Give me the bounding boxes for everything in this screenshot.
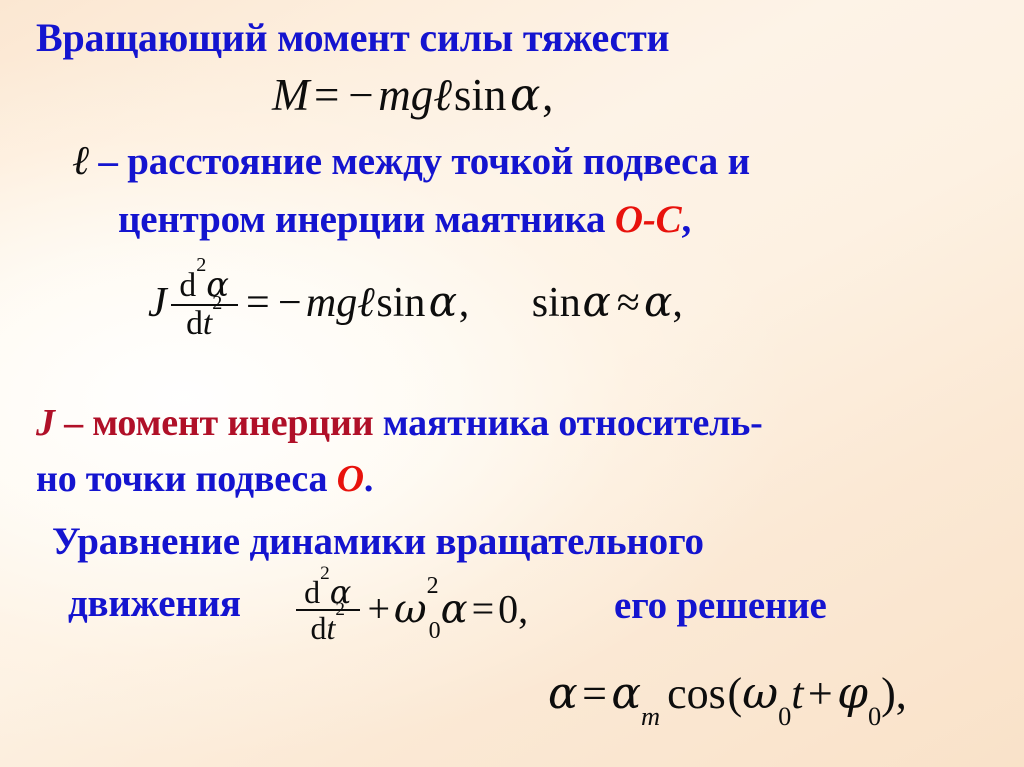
equation-solution: α=αmcos(ω0t+φ0), xyxy=(548,672,907,716)
sol-plus: + xyxy=(804,669,838,718)
suspension-label-o: О xyxy=(337,458,364,500)
sol-alpha-amp: α xyxy=(611,668,641,719)
torque-equals: = xyxy=(310,70,344,120)
sol-equals: = xyxy=(578,669,612,718)
moment-symbol-j: J xyxy=(36,402,55,444)
torque-mg: mg xyxy=(378,70,433,120)
center-label-oc: О-С xyxy=(615,198,682,241)
moment-crimson-text: момент инерции xyxy=(92,402,373,444)
rot-den-d: d xyxy=(186,305,203,342)
sol-comma: , xyxy=(896,669,907,718)
harm-numerator: d2α xyxy=(296,576,360,609)
sol-phi-sub: 0 xyxy=(868,701,881,731)
torque-ell: ℓ xyxy=(433,68,452,121)
sol-phi: φ xyxy=(837,668,868,719)
rot-minus: − xyxy=(274,280,306,326)
rot-alpha: α xyxy=(427,277,459,326)
sol-amp-sub: m xyxy=(641,701,660,731)
harm-plus: + xyxy=(363,586,394,631)
torque-sin: sin xyxy=(452,70,508,120)
rot-den-exp: 2 xyxy=(212,292,222,314)
rot-equals: = xyxy=(242,280,274,326)
rot-numerator: d2α xyxy=(171,268,238,304)
line-moment-of-inertia: J – момент инерции маятника относитель- xyxy=(36,404,763,442)
sol-t: t xyxy=(791,669,803,718)
harm-num-d: d xyxy=(304,574,320,610)
suspension-period: . xyxy=(364,458,373,500)
slide-canvas: Вращающий момент силы тяжести M=−mgℓsinα… xyxy=(0,0,1024,767)
harm-omega: ω xyxy=(394,586,427,632)
torque-minus: − xyxy=(344,70,378,120)
equation-rotation-dynamics: J d2α dt2 =−mgℓsinα, sinα≈α, xyxy=(148,268,683,340)
sol-alpha: α xyxy=(548,668,578,719)
harm-zero: 0 xyxy=(498,586,518,631)
harm-den-d: d xyxy=(311,610,327,646)
sol-open-paren: ( xyxy=(728,669,743,718)
harm-omega-exp: 2 xyxy=(427,573,439,599)
rot-comma: , xyxy=(459,280,470,326)
harm-num-exp: 2 xyxy=(320,563,330,584)
harm-denominator: dt2 xyxy=(296,609,360,644)
torque-alpha: α xyxy=(508,68,542,121)
sol-close-paren: ) xyxy=(881,669,896,718)
harm-comma: , xyxy=(518,586,528,631)
rot-num-d: d xyxy=(179,267,196,304)
rot-sin: sin xyxy=(375,280,427,326)
line-center-of-inertia: центром инерции маятника О-С, xyxy=(118,200,691,239)
line-suspension-point: но точки подвеса О. xyxy=(36,460,373,498)
approx-sign: ≈ xyxy=(613,280,644,326)
torque-comma: , xyxy=(542,70,553,120)
ell-symbol: ℓ xyxy=(72,136,89,184)
ell-definition-text: расстояние между точкой подвеса и xyxy=(127,140,750,183)
sol-omega-sub: 0 xyxy=(778,701,791,731)
rot-den-t: t xyxy=(203,305,212,342)
sol-cos: cos xyxy=(665,669,727,718)
harm-den-exp: 2 xyxy=(335,599,345,620)
equation-harmonic: d2α dt2 +ω20α=0, xyxy=(292,576,528,644)
harm-omega-sub: 0 xyxy=(429,618,441,644)
harm-alpha: α xyxy=(441,586,468,632)
center-text: центром инерции маятника xyxy=(118,198,605,241)
line-solution-label: его решение xyxy=(614,586,827,625)
suspension-text: но точки подвеса xyxy=(36,458,327,500)
approx-alpha-right: α xyxy=(644,277,672,326)
rot-J: J xyxy=(148,280,167,326)
torque-lhs: M xyxy=(272,70,310,120)
moment-dash: – xyxy=(64,402,83,444)
approx-comma: , xyxy=(672,280,683,326)
approx-alpha-left: α xyxy=(581,277,613,326)
approx-sin: sin xyxy=(532,280,581,326)
line-dynamics-equation-label-2: движения xyxy=(68,584,241,623)
ell-dash: – xyxy=(98,140,117,183)
moment-blue-text: маятника относитель- xyxy=(383,402,763,444)
harm-fraction: d2α dt2 xyxy=(292,576,363,644)
center-comma: , xyxy=(681,198,691,241)
harm-equals: = xyxy=(468,586,499,631)
page-title: Вращающий момент силы тяжести xyxy=(36,18,669,58)
rot-num-exp: 2 xyxy=(196,254,206,276)
rot-fraction: d2α dt2 xyxy=(167,268,242,340)
line-ell-definition: ℓ – расстояние между точкой подвеса и xyxy=(72,140,750,181)
equation-torque: M=−mgℓsinα, xyxy=(272,72,553,118)
rot-denominator: dt2 xyxy=(171,304,238,341)
rot-mg: mg xyxy=(306,280,357,326)
line-dynamics-equation-label-1: Уравнение динамики вращательного xyxy=(52,522,704,561)
rot-ell: ℓ xyxy=(357,277,375,326)
sol-omega: ω xyxy=(742,668,778,719)
